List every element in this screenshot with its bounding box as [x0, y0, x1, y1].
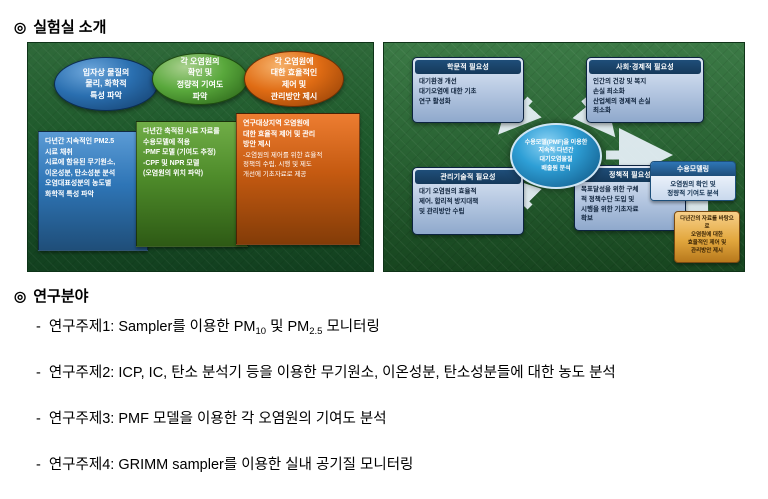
callout-receptor-modeling-head: 수용모델링	[651, 162, 735, 176]
section-heading-intro: ◎실험실 소개	[14, 16, 106, 37]
list-item-topic-4: -연구주제4: GRIMM sampler를 이용한 실내 공기질 모니터링	[36, 453, 746, 474]
q1-line-1: 대기환경 개선	[419, 77, 518, 87]
topic-2-dash: -	[36, 365, 41, 381]
q1-line-3: 연구 활성화	[419, 97, 518, 107]
slab-management-plan: 연구대상지역 오염원에 대한 효율적 제어 및 관리 방안 제시 -오염원의 제…	[236, 113, 360, 245]
quadrant-management-body: 대기 오염원의 효율적 제어, 합리적 방지대책 및 관리방안 수립	[415, 184, 521, 216]
slab-1-line-1: 다년간 지속적인 PM2.5	[45, 137, 142, 148]
slab-3-line-2: 대한 효율적 제어 및 관리	[243, 130, 354, 141]
slab-2-line-1: 다년간 축적된 시료 자료를	[143, 127, 242, 138]
left-research-flow-diagram: 입자상 물질의 물리, 화학적 특성 파악 각 오염원의 확인 및 정량적 기여…	[27, 42, 374, 272]
q3-line-1: 대기 오염원의 효율적	[419, 187, 518, 197]
topic-1-part-2: 및 PM	[266, 319, 309, 335]
slab-receptor-model: 다년간 축적된 시료 자료를 수용모델에 적용 -PMF 모델 (기여도 추정)…	[136, 121, 248, 247]
topic-1-sub-2: 2.5	[309, 326, 322, 337]
research-topic-list: -연구주제1: Sampler를 이용한 PM10 및 PM2.5 모니터링 -…	[36, 315, 746, 499]
topic-2-text: 연구주제2: ICP, IC, 탄소 분석기 등을 이용한 무기원소, 이온성분…	[49, 365, 616, 381]
topic-3-text: 연구주제3: PMF 모델을 이용한 각 오염원의 기여도 분석	[49, 411, 387, 427]
slab-3-line-6: 개선에 기초자료로 제공	[243, 170, 354, 180]
section-heading-research-label: 연구분야	[33, 288, 88, 305]
slab-1-line-2: 시료 채취	[45, 148, 142, 159]
topic-1-part-3: 모니터링	[322, 319, 379, 335]
q3-line-2: 제어, 합리적 방지대책	[419, 197, 518, 207]
topic-4-dash: -	[36, 457, 41, 473]
bubble-particulate-properties: 입자상 물질의 물리, 화학적 특성 파악	[54, 57, 158, 111]
quadrant-academic-body: 대기환경 개선 대기오염에 대한 기초 연구 활성화	[415, 74, 521, 106]
bullet-icon: ◎	[14, 288, 26, 304]
right-necessity-diagram: 학문적 필요성 대기환경 개선 대기오염에 대한 기초 연구 활성화 사회·경제…	[383, 42, 745, 272]
slab-sampling-analysis: 다년간 지속적인 PM2.5 시료 채취 시료에 함유된 무기원소, 이온성분,…	[38, 131, 148, 251]
slab-1-line-6: 화학적 특성 파악	[45, 190, 142, 201]
quadrant-socioeconomic-head: 사회·경제적 필요성	[589, 60, 701, 74]
callout-receptor-modeling-body: 오염원의 확인 및 정량적 기여도 분석	[651, 176, 735, 201]
slab-1-line-5: 오염대표성분의 농도별	[45, 179, 142, 190]
slab-3-line-3: 방안 제시	[243, 140, 354, 151]
section-heading-intro-label: 실험실 소개	[33, 19, 106, 36]
slab-2-line-2: 수용모델에 적용	[143, 138, 242, 149]
quadrant-management-necessity: 관리기술적 필요성 대기 오염원의 효율적 제어, 합리적 방지대책 및 관리방…	[412, 167, 524, 235]
topic-1-dash: -	[36, 319, 41, 335]
topic-4-text: 연구주제4: GRIMM sampler를 이용한 실내 공기질 모니터링	[49, 457, 414, 473]
q2-line-1: 인간의 건강 및 복지	[593, 77, 698, 87]
section-heading-research: ◎연구분야	[14, 285, 88, 306]
quadrant-academic-necessity: 학문적 필요성 대기환경 개선 대기오염에 대한 기초 연구 활성화	[412, 57, 524, 123]
quadrant-management-head: 관리기술적 필요성	[415, 170, 521, 184]
center-circle-receptor-model: 수용모델(PMF)을 이용한 지속적·다년간 대기오염물질 배출원 분석	[510, 123, 602, 189]
slab-3-line-5: 정책의 수립, 시행 및 제도	[243, 160, 354, 170]
topic-1-sub-1: 10	[255, 326, 266, 337]
list-item-topic-1: -연구주제1: Sampler를 이용한 PM10 및 PM2.5 모니터링	[36, 315, 746, 336]
list-item-topic-2: -연구주제2: ICP, IC, 탄소 분석기 등을 이용한 무기원소, 이온성…	[36, 361, 746, 382]
q2-line-3: 산업체의 경제적 손실	[593, 97, 698, 107]
slab-2-line-5: (오염원의 위치 파악)	[143, 169, 242, 180]
quadrant-socioeconomic-body: 인간의 건강 및 복지 손실 최소화 산업체의 경제적 손실 최소화	[589, 74, 701, 116]
q2-line-2: 손실 최소화	[593, 87, 698, 97]
list-item-topic-3: -연구주제3: PMF 모델을 이용한 각 오염원의 기여도 분석	[36, 407, 746, 428]
q2-line-4: 최소화	[593, 106, 698, 116]
quadrant-academic-head: 학문적 필요성	[415, 60, 521, 74]
figure-area: 입자상 물질의 물리, 화학적 특성 파악 각 오염원의 확인 및 정량적 기여…	[27, 42, 743, 270]
slab-2-line-4: -CPF 및 NPR 모델	[143, 159, 242, 170]
q4-line-4: 확보	[581, 214, 680, 224]
callout-receptor-modeling: 수용모델링 오염원의 확인 및 정량적 기여도 분석	[650, 161, 736, 201]
topic-3-dash: -	[36, 411, 41, 427]
callout-policy-outcome: 다년간의 자료를 바탕으로 오염원에 대한 효율적인 제어 및 관리방안 제시 …	[674, 211, 740, 263]
slab-3-line-1: 연구대상지역 오염원에	[243, 119, 354, 130]
slab-1-line-3: 시료에 함유된 무기원소,	[45, 158, 142, 169]
q1-line-2: 대기오염에 대한 기초	[419, 87, 518, 97]
q4-line-3: 시행을 위한 기초자료	[581, 205, 680, 215]
slab-1-line-4: 이온성분, 탄소성분 분석	[45, 169, 142, 180]
quadrant-socioeconomic-necessity: 사회·경제적 필요성 인간의 건강 및 복지 손실 최소화 산업체의 경제적 손…	[586, 57, 704, 123]
slab-2-line-3: -PMF 모델 (기여도 추정)	[143, 148, 242, 159]
bubble-source-contribution: 각 오염원의 확인 및 정량적 기여도 파악	[152, 53, 248, 105]
bullet-icon: ◎	[14, 19, 26, 35]
bubble-source-control: 각 오염원에 대한 효율적인 제어 및 관리방안 제시	[244, 51, 344, 107]
topic-1-part-1: 연구주제1: Sampler를 이용한 PM	[49, 319, 256, 335]
slab-3-line-4: -오염원의 제어를 위한 효율적	[243, 151, 354, 161]
q3-line-3: 및 관리방안 수립	[419, 207, 518, 217]
